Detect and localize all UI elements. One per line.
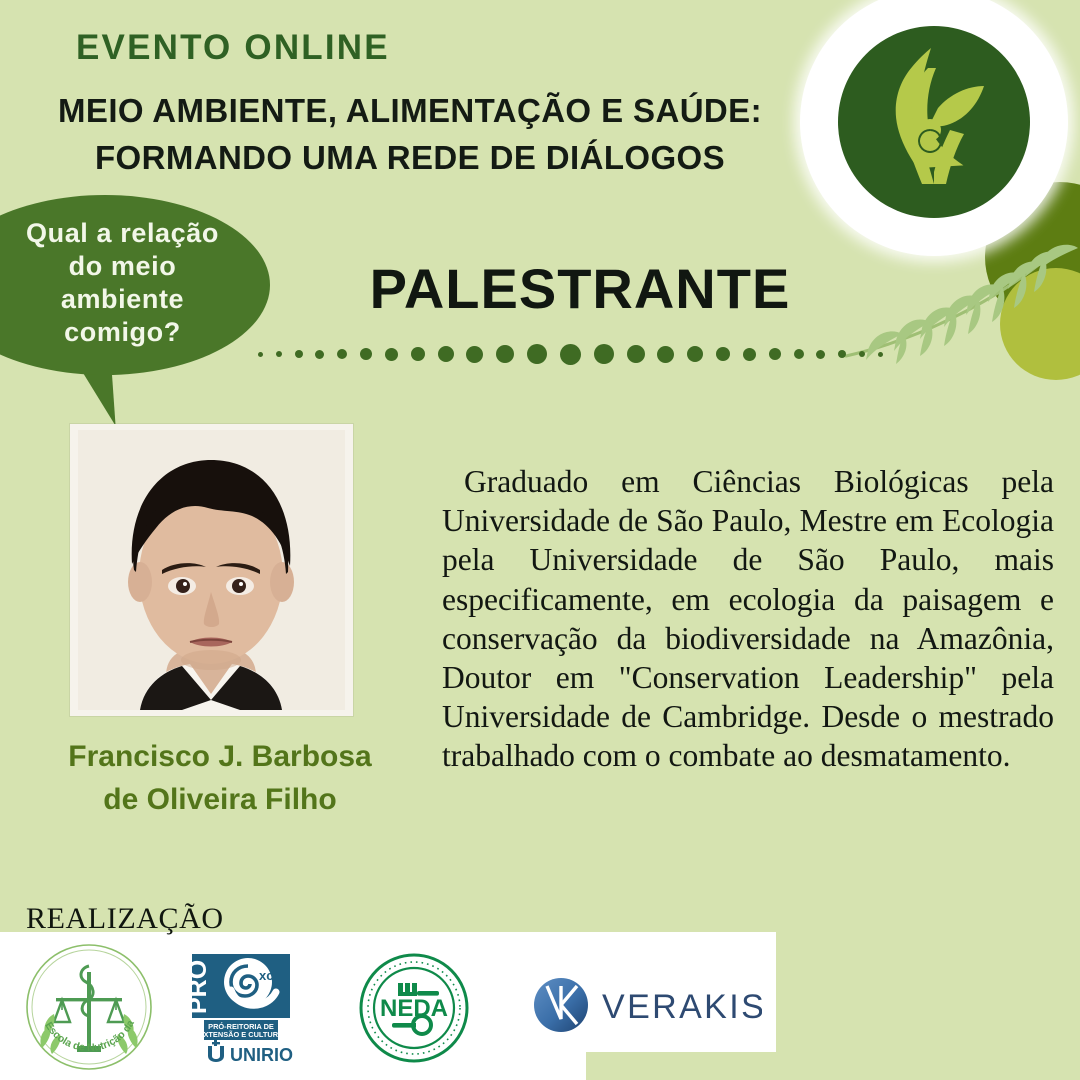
speech-bubble-line-2: do meio	[0, 250, 245, 283]
divider-dot	[438, 346, 454, 362]
divider-dot	[560, 344, 581, 365]
event-poster: EVENTO ONLINE MEIO AMBIENTE, ALIMENTAÇÃO…	[0, 0, 1080, 1080]
divider-dot	[769, 348, 781, 360]
divider-dot	[838, 350, 846, 358]
divider-dot	[743, 348, 756, 361]
proexc-xc-text: xc	[259, 968, 273, 983]
divider-dot	[360, 348, 372, 360]
realizacao-label: REALIZAÇÃO	[26, 902, 224, 936]
speech-bubble-text: Qual a relação do meio ambiente comigo?	[0, 217, 245, 349]
kicker-label: EVENTO ONLINE	[76, 28, 390, 68]
divider-dot	[687, 346, 703, 362]
speech-bubble-line-1: Qual a relação	[0, 217, 245, 250]
speech-bubble-line-4: comigo?	[0, 316, 245, 349]
title-line-2: FORMANDO UMA REDE DE DIÁLOGOS	[40, 135, 780, 182]
section-heading: PALESTRANTE	[340, 256, 820, 321]
page-title: MEIO AMBIENTE, ALIMENTAÇÃO E SAÚDE: FORM…	[40, 88, 780, 182]
divider-dot	[337, 349, 347, 359]
title-line-1: MEIO AMBIENTE, ALIMENTAÇÃO E SAÚDE:	[40, 88, 780, 135]
divider-dot	[657, 346, 674, 363]
divider-dot	[258, 352, 263, 357]
divider-dot	[594, 344, 614, 364]
divider-dot	[466, 346, 483, 363]
divider-dot	[295, 350, 303, 358]
verakis-logo: VERAKIS	[530, 974, 762, 1036]
speech-bubble: Qual a relação do meio ambiente comigo?	[0, 195, 270, 425]
divider-dot	[859, 351, 865, 357]
divider-dot	[816, 350, 825, 359]
divider-dot	[276, 351, 282, 357]
divider-dot	[716, 347, 730, 361]
escola-de-nutricao-da-unirio-logo: Escola de Nutrição da Unirio	[24, 942, 154, 1072]
speaker-bio: Graduado em Ciências Biológicas pela Uni…	[442, 462, 1054, 776]
unirio-text: UNIRIO	[230, 1045, 293, 1064]
footer-logo-row: Escola de Nutrição da Unirio PRO xc PRÓ-…	[0, 940, 776, 1072]
avatar	[70, 424, 353, 716]
proexc-subtitle-line-2: EXTENSÃO E CULTURA	[199, 1030, 285, 1039]
dot-divider	[258, 340, 883, 368]
divider-dot	[315, 350, 324, 359]
neda-logo: NEDA	[352, 952, 476, 1064]
speech-bubble-line-3: ambiente	[0, 283, 245, 316]
speaker-name-line-2: de Oliveira Filho	[10, 779, 430, 822]
plant-person-leaf-logo	[838, 26, 1030, 218]
divider-dot	[411, 347, 425, 361]
divider-dot	[527, 344, 547, 364]
proexc-unirio-logo: PRO xc PRÓ-REITORIA DE EXTENSÃO E CULTUR…	[186, 952, 296, 1064]
neda-wordmark: NEDA	[380, 995, 448, 1022]
divider-dot	[627, 345, 645, 363]
speaker-name: Francisco J. Barbosa de Oliveira Filho	[10, 736, 430, 821]
proexc-pro-text: PRO	[186, 960, 212, 1014]
verakis-wordmark: VERAKIS	[602, 988, 762, 1026]
divider-dot	[385, 348, 398, 361]
divider-dot	[878, 352, 883, 357]
divider-dot	[496, 345, 514, 363]
speaker-name-line-1: Francisco J. Barbosa	[10, 736, 430, 779]
divider-dot	[794, 349, 804, 359]
